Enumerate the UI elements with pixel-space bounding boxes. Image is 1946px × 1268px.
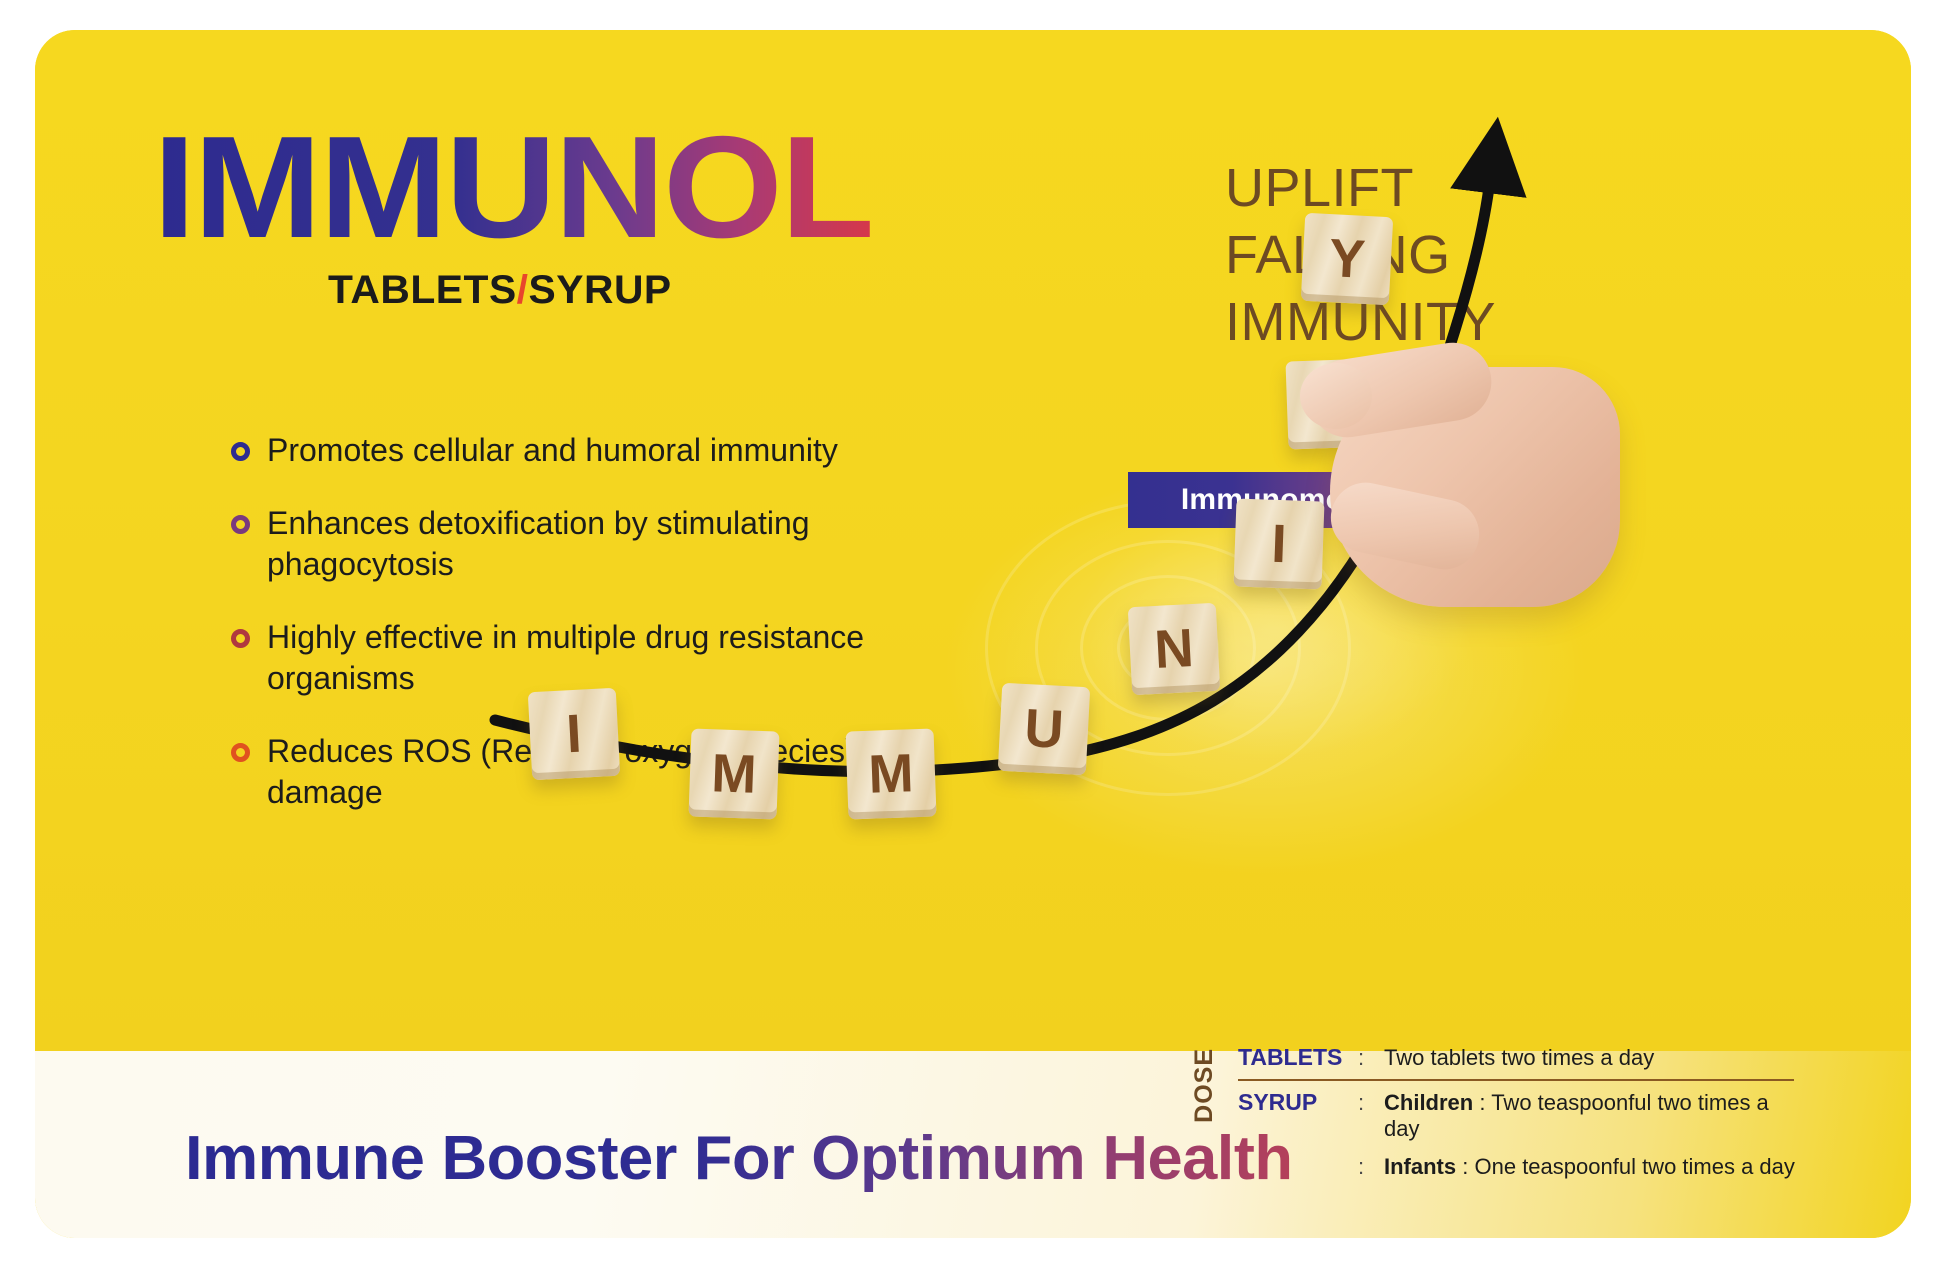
- ad-card: IMMUNOL TABLETS/SYRUP UPLIFT FALLING IMM…: [35, 30, 1911, 1238]
- form-tablets: TABLETS: [328, 268, 517, 312]
- status-badge: Immunomodulator: [1128, 472, 1500, 528]
- form-syrup: SYRUP: [529, 268, 672, 312]
- dose-value-children: Children : Two teaspoonful two times a d…: [1384, 1090, 1808, 1142]
- footer-tagline: Immune Booster For Optimum Health: [185, 1123, 1293, 1194]
- list-item: Reduces ROS (Reactive oxygen species) da…: [231, 731, 951, 813]
- dose-value-tablets: Two tablets two times a day: [1384, 1045, 1808, 1071]
- ripple-ring: [1117, 605, 1219, 691]
- dose-key-syrup: SYRUP: [1238, 1089, 1358, 1116]
- dosage-forms: TABLETS/SYRUP: [328, 268, 842, 313]
- dose-subkey-infants: Infants: [1384, 1154, 1456, 1179]
- bullet-dot-icon: [231, 442, 250, 461]
- dose-row-syrup-infants: : Infants : One teaspoonful two times a …: [1238, 1148, 1808, 1186]
- benefit-text: Enhances detoxification by stimulating p…: [267, 503, 951, 585]
- dose-row-syrup-children: SYRUP : Children : Two teaspoonful two t…: [1238, 1083, 1808, 1148]
- dose-colon: :: [1358, 1090, 1384, 1116]
- dose-subkey-children: Children: [1384, 1090, 1473, 1115]
- form-separator: /: [517, 268, 529, 312]
- list-item: Promotes cellular and humoral immunity: [231, 430, 951, 471]
- badge-label: Immunomodulator: [1181, 483, 1447, 517]
- dose-key-tablets: TABLETS: [1238, 1044, 1358, 1071]
- list-item: Enhances detoxification by stimulating p…: [231, 503, 951, 585]
- dose-label: DOSE: [1190, 1048, 1219, 1123]
- dose-value-infants: Infants : One teaspoonful two times a da…: [1384, 1154, 1808, 1180]
- dose-colon: :: [1358, 1154, 1384, 1180]
- benefit-text: Reduces ROS (Reactive oxygen species) da…: [267, 731, 951, 813]
- benefit-text: Highly effective in multiple drug resist…: [267, 617, 951, 699]
- bullet-dot-icon: [231, 743, 250, 762]
- headline: UPLIFT FALLING IMMUNITY: [1225, 155, 1496, 356]
- list-item: Highly effective in multiple drug resist…: [231, 617, 951, 699]
- poster-page: IMMUNOL TABLETS/SYRUP UPLIFT FALLING IMM…: [0, 0, 1946, 1268]
- bullet-dot-icon: [231, 629, 250, 648]
- benefit-text: Promotes cellular and humoral immunity: [267, 430, 838, 471]
- headline-line-1: UPLIFT: [1225, 155, 1496, 222]
- dose-subcolon: :: [1479, 1090, 1485, 1115]
- dose-row-tablets: TABLETS : Two tablets two times a day: [1238, 1038, 1808, 1077]
- headline-line-2: FALLING: [1225, 222, 1496, 289]
- brand-logo: IMMUNOL TABLETS/SYRUP: [153, 115, 832, 313]
- dose-subcolon: :: [1462, 1154, 1468, 1179]
- bullet-dot-icon: [231, 515, 250, 534]
- dose-rows: TABLETS : Two tablets two times a day SY…: [1238, 1038, 1808, 1186]
- dose-colon: :: [1358, 1045, 1384, 1071]
- benefits-list: Promotes cellular and humoral immunity E…: [231, 430, 951, 845]
- dose-infants-text: One teaspoonful two times a day: [1475, 1154, 1795, 1179]
- headline-line-3: IMMUNITY: [1225, 289, 1496, 356]
- brand-name: IMMUNOL: [153, 115, 872, 260]
- dose-divider: [1238, 1079, 1794, 1081]
